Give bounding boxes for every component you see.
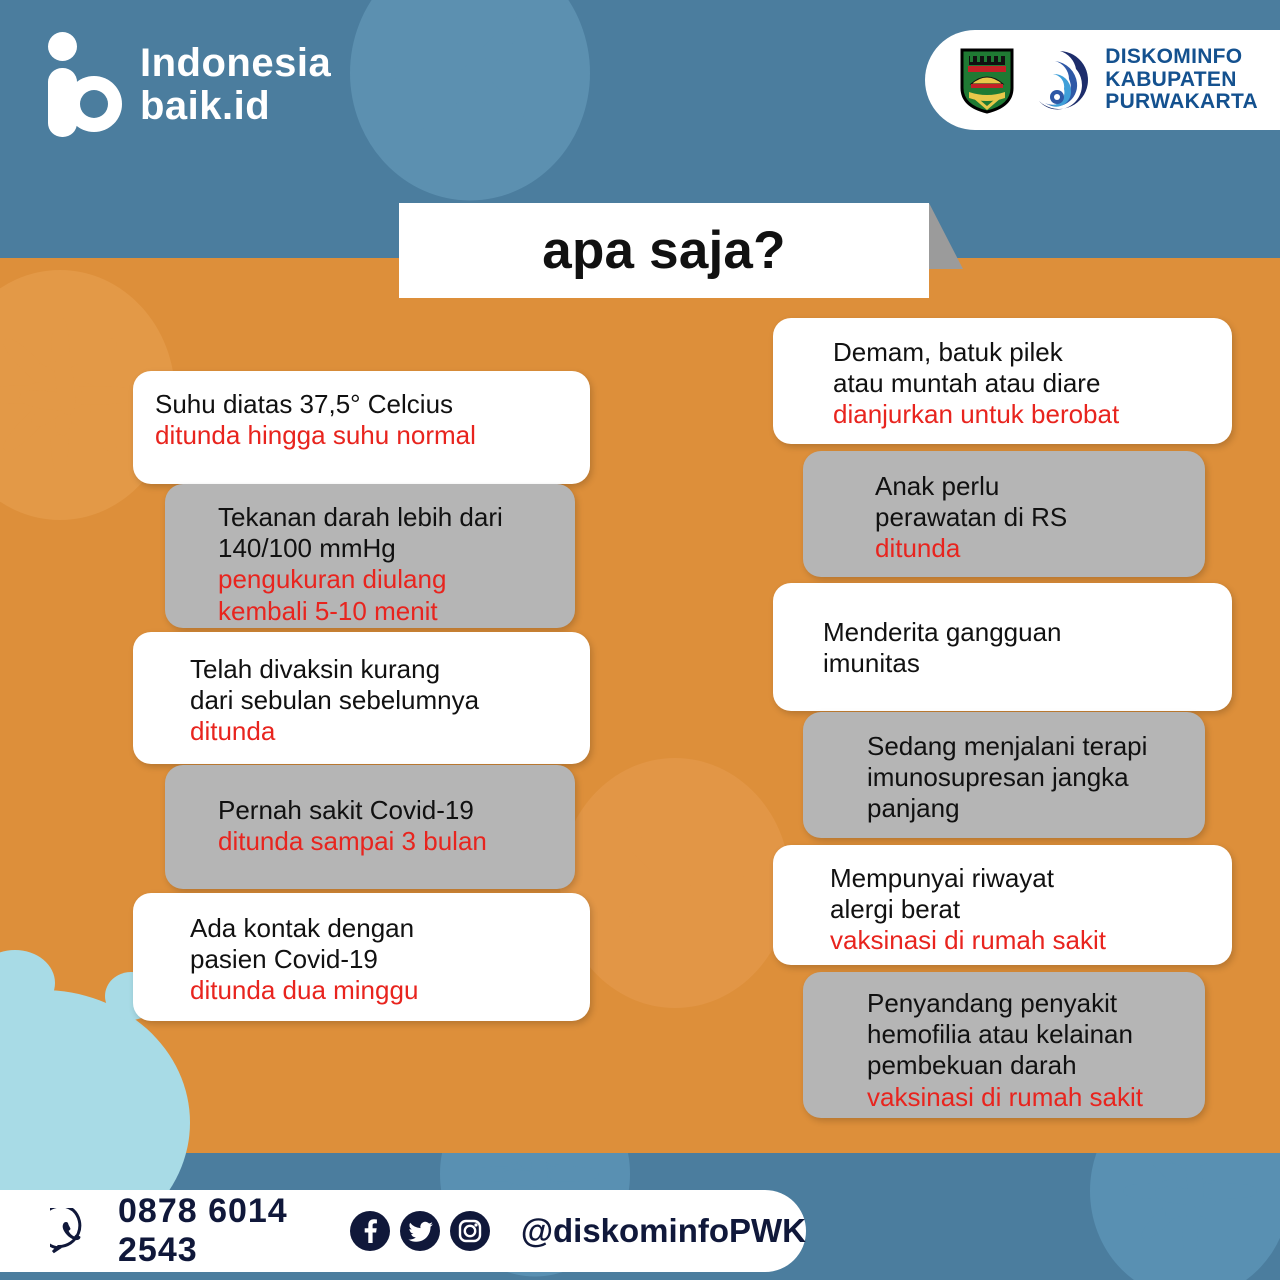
card-line: pasien Covid-19 (190, 944, 568, 975)
twitter-icon[interactable] (399, 1210, 441, 1252)
virus-decoration-icon (560, 758, 790, 1008)
brand-line-2: baik.id (140, 85, 331, 127)
instagram-icon[interactable] (449, 1210, 491, 1252)
card-line: ditunda hingga suhu normal (155, 420, 568, 451)
right-card-6[interactable]: Penyandang penyakit hemofilia atau kelai… (803, 972, 1205, 1118)
card-line: Sedang menjalani terapi (867, 731, 1183, 762)
card-line: imunosupresan jangka (867, 762, 1183, 793)
card-line: alergi berat (830, 894, 1210, 925)
card-line: ditunda dua minggu (190, 975, 568, 1006)
card-line: ditunda (875, 533, 1183, 564)
card-line: ditunda (190, 716, 568, 747)
social-icons (349, 1210, 491, 1252)
infographic-poster: Indonesia baik.id (0, 0, 1280, 1280)
badge-line-1: DISKOMINFO (1105, 46, 1258, 69)
right-card-1[interactable]: Demam, batuk pilek atau muntah atau diar… (773, 318, 1232, 444)
facebook-icon[interactable] (349, 1210, 391, 1252)
card-line: Suhu diatas 37,5° Celcius (155, 389, 568, 420)
card-line: atau muntah atau diare (833, 368, 1210, 399)
phone-number: 0878 6014 2543 (118, 1192, 315, 1270)
card-line: dari sebulan sebelumnya (190, 685, 568, 716)
card-line: imunitas (823, 648, 1210, 679)
brand-line-1: Indonesia (140, 42, 331, 84)
page-title: apa saja? (399, 203, 929, 298)
social-handle: @diskominfoPWK (521, 1212, 806, 1250)
right-card-5[interactable]: Mempunyai riwayat alergi berat vaksinasi… (773, 845, 1232, 965)
card-line: Demam, batuk pilek (833, 337, 1210, 368)
diskominfo-badge: DISKOMINFO KABUPATEN PURWAKARTA (925, 30, 1280, 130)
virus-decoration-icon (350, 0, 590, 200)
card-line: 140/100 mmHg (218, 533, 553, 564)
right-card-4[interactable]: Sedang menjalani terapi imunosupresan ja… (803, 712, 1205, 838)
card-line: pembekuan darah (867, 1050, 1183, 1081)
whatsapp-icon[interactable] (50, 1208, 96, 1254)
left-card-3[interactable]: Telah divaksin kurang dari sebulan sebel… (133, 632, 590, 764)
card-line: panjang (867, 793, 1183, 824)
card-line: Penyandang penyakit (867, 988, 1183, 1019)
card-line: Telah divaksin kurang (190, 654, 568, 685)
right-card-2[interactable]: Anak perlu perawatan di RS ditunda (803, 451, 1205, 577)
card-line: ditunda sampai 3 bulan (218, 826, 553, 857)
indonesiabaik-logo: Indonesia baik.id (48, 32, 331, 137)
card-line: Menderita gangguan (823, 617, 1210, 648)
card-line: Tekanan darah lebih dari (218, 502, 553, 533)
card-line: Mempunyai riwayat (830, 863, 1210, 894)
contact-footer: 0878 6014 2543 (0, 1190, 806, 1272)
card-line: Ada kontak dengan (190, 913, 568, 944)
badge-line-2: KABUPATEN (1105, 69, 1258, 92)
card-line: pengukuran diulang (218, 564, 553, 595)
brand-wordmark: Indonesia baik.id (140, 42, 331, 127)
page-title-text: apa saja? (542, 220, 785, 281)
left-card-1[interactable]: Suhu diatas 37,5° Celcius ditunda hingga… (133, 371, 590, 484)
card-line: vaksinasi di rumah sakit (867, 1082, 1183, 1113)
left-card-4[interactable]: Pernah sakit Covid-19 ditunda sampai 3 b… (165, 765, 575, 889)
left-card-2[interactable]: Tekanan darah lebih dari 140/100 mmHg pe… (165, 484, 575, 628)
card-line: vaksinasi di rumah sakit (830, 925, 1210, 956)
card-line: Anak perlu (875, 471, 1183, 502)
card-line: dianjurkan untuk berobat (833, 399, 1210, 430)
diskominfo-badge-text: DISKOMINFO KABUPATEN PURWAKARTA (1105, 46, 1258, 114)
card-line: kembali 5-10 menit (218, 596, 553, 627)
card-line: Pernah sakit Covid-19 (218, 795, 553, 826)
indonesiabaik-b-icon (48, 32, 122, 137)
card-line: perawatan di RS (875, 502, 1183, 533)
kominfo-wave-logo-icon (1029, 49, 1091, 111)
card-line: hemofilia atau kelainan (867, 1019, 1183, 1050)
purwakarta-regency-emblem-icon (959, 46, 1015, 114)
left-card-5[interactable]: Ada kontak dengan pasien Covid-19 ditund… (133, 893, 590, 1021)
right-card-3[interactable]: Menderita gangguan imunitas (773, 583, 1232, 711)
virus-decoration-icon (1090, 1153, 1280, 1280)
badge-line-3: PURWAKARTA (1105, 91, 1258, 114)
